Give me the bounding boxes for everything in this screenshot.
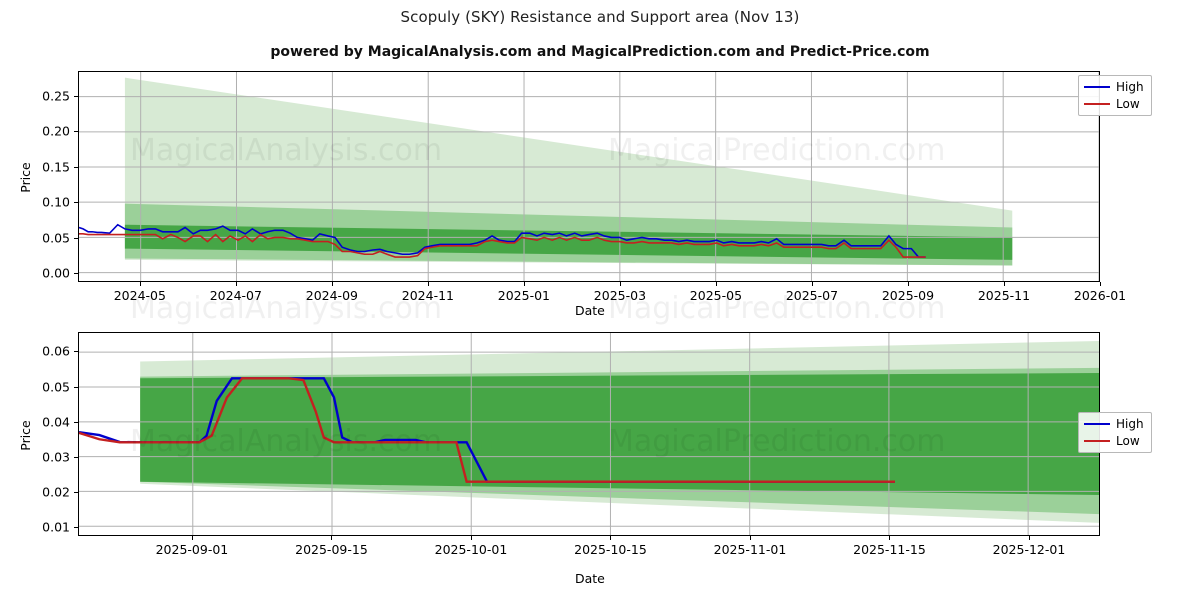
x-tick-mark xyxy=(524,282,525,286)
x-tick-label: 2026-01 xyxy=(1074,288,1126,303)
y-tick-label: 0.05 xyxy=(26,230,70,245)
y-tick-mark xyxy=(74,527,78,528)
y-tick-mark xyxy=(74,202,78,203)
x-tick-mark xyxy=(1004,282,1005,286)
top-legend: High Low xyxy=(1078,75,1152,116)
x-tick-label: 2024-05 xyxy=(114,288,166,303)
x-tick-label: 2025-11 xyxy=(978,288,1030,303)
chart-subtitle: powered by MagicalAnalysis.com and Magic… xyxy=(0,44,1200,60)
bottom-y-axis-label: Price xyxy=(18,420,33,451)
x-tick-mark xyxy=(1029,536,1030,540)
y-tick-label: 0.01 xyxy=(26,520,70,535)
legend-swatch-high xyxy=(1084,86,1110,88)
x-tick-label: 2025-07 xyxy=(786,288,838,303)
x-tick-label: 2024-07 xyxy=(210,288,262,303)
legend-label-low: Low xyxy=(1116,434,1140,448)
x-tick-label: 2025-09-01 xyxy=(156,542,229,557)
x-tick-mark xyxy=(1100,282,1101,286)
bottom-legend: High Low xyxy=(1078,412,1152,453)
x-tick-mark xyxy=(428,282,429,286)
y-tick-label: 0.06 xyxy=(26,344,70,359)
x-tick-mark xyxy=(331,536,332,540)
watermark-analysis: MagicalAnalysis.com xyxy=(130,291,442,326)
y-tick-mark xyxy=(74,238,78,239)
x-tick-mark xyxy=(812,282,813,286)
y-tick-mark xyxy=(74,273,78,274)
top-plot-area xyxy=(78,71,1100,282)
legend-entry-low: Low xyxy=(1084,434,1144,448)
x-tick-label: 2025-12-01 xyxy=(993,542,1066,557)
y-tick-label: 0.05 xyxy=(26,379,70,394)
x-tick-label: 2025-10-01 xyxy=(435,542,508,557)
top-y-axis-label: Price xyxy=(18,162,33,193)
legend-swatch-low xyxy=(1084,440,1110,442)
x-tick-mark xyxy=(750,536,751,540)
x-tick-mark xyxy=(471,536,472,540)
legend-entry-low: Low xyxy=(1084,97,1144,111)
top-x-axis-label: Date xyxy=(575,303,605,318)
legend-entry-high: High xyxy=(1084,80,1144,94)
x-tick-mark xyxy=(620,282,621,286)
x-tick-mark xyxy=(716,282,717,286)
x-tick-label: 2025-01 xyxy=(498,288,550,303)
y-tick-mark xyxy=(74,167,78,168)
x-tick-mark xyxy=(192,536,193,540)
band-inner xyxy=(140,373,1099,495)
x-tick-mark xyxy=(889,536,890,540)
x-tick-label: 2025-03 xyxy=(594,288,646,303)
x-tick-label: 2025-11-15 xyxy=(853,542,926,557)
y-tick-mark xyxy=(74,96,78,97)
y-tick-mark xyxy=(74,422,78,423)
legend-label-high: High xyxy=(1116,417,1144,431)
x-tick-mark xyxy=(140,282,141,286)
y-tick-label: 0.02 xyxy=(26,485,70,500)
bottom-x-axis-label: Date xyxy=(575,571,605,586)
x-tick-label: 2025-11-01 xyxy=(714,542,787,557)
x-tick-label: 2024-09 xyxy=(306,288,358,303)
legend-label-high: High xyxy=(1116,80,1144,94)
y-tick-label: 0.03 xyxy=(26,449,70,464)
bottom-plot-area xyxy=(78,332,1100,536)
y-tick-label: 0.10 xyxy=(26,195,70,210)
page-title: Scopuly (SKY) Resistance and Support are… xyxy=(0,8,1200,26)
y-tick-label: 0.00 xyxy=(26,266,70,281)
chart-figure: Scopuly (SKY) Resistance and Support are… xyxy=(0,0,1200,600)
y-tick-label: 0.20 xyxy=(26,124,70,139)
y-tick-mark xyxy=(74,351,78,352)
y-tick-mark xyxy=(74,492,78,493)
x-tick-label: 2024-11 xyxy=(402,288,454,303)
x-tick-label: 2025-10-15 xyxy=(574,542,647,557)
legend-entry-high: High xyxy=(1084,417,1144,431)
x-tick-mark xyxy=(908,282,909,286)
x-tick-mark xyxy=(610,536,611,540)
legend-swatch-high xyxy=(1084,423,1110,425)
x-tick-label: 2025-09-15 xyxy=(295,542,368,557)
x-tick-label: 2025-09 xyxy=(882,288,934,303)
y-tick-mark xyxy=(74,387,78,388)
y-tick-mark xyxy=(74,457,78,458)
legend-swatch-low xyxy=(1084,103,1110,105)
x-tick-label: 2025-05 xyxy=(690,288,742,303)
bottom-chart-panel xyxy=(78,332,1100,536)
x-tick-mark xyxy=(236,282,237,286)
top-chart-panel xyxy=(78,71,1100,282)
legend-label-low: Low xyxy=(1116,97,1140,111)
y-tick-label: 0.25 xyxy=(26,88,70,103)
y-tick-mark xyxy=(74,131,78,132)
x-tick-mark xyxy=(332,282,333,286)
